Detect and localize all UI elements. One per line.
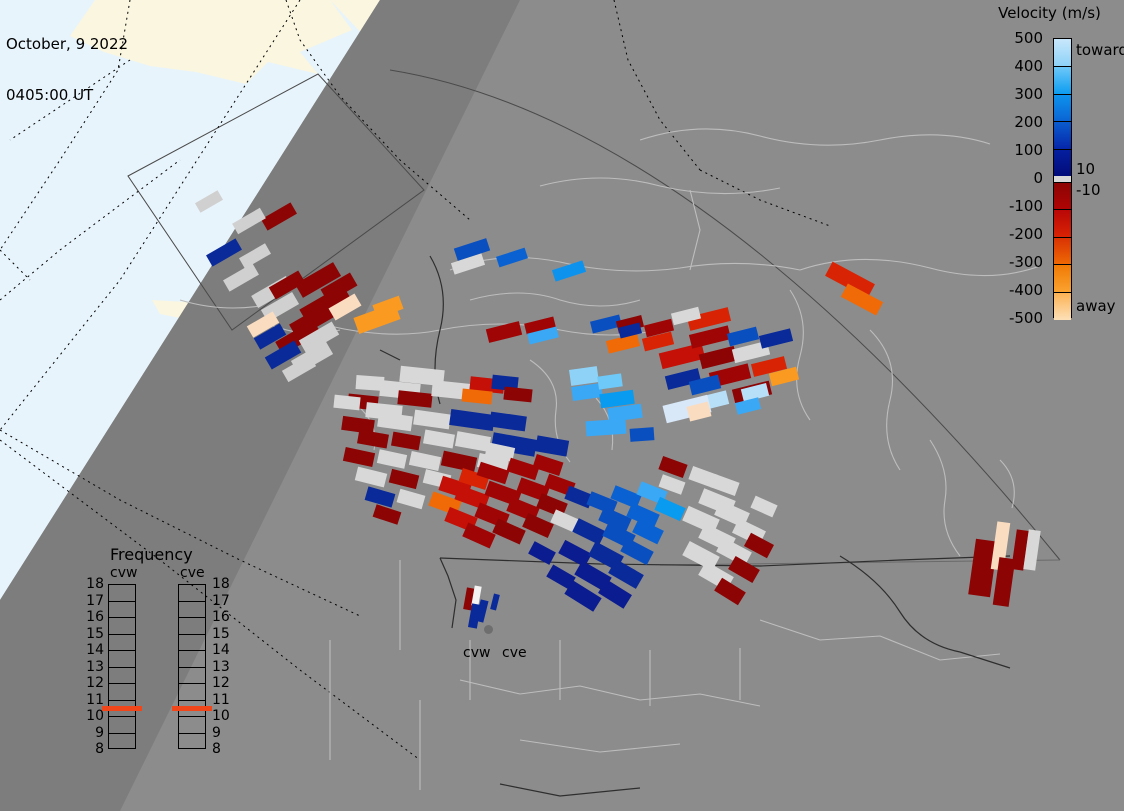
frequency-marker-cvw	[102, 706, 142, 711]
velocity-colorbar-ticks: 5004003002001000-100-200-300-400-500	[975, 38, 1047, 318]
frequency-scale-segment	[109, 585, 135, 602]
colorbar-inner-lower-label: -10	[1076, 181, 1101, 199]
colorbar-band	[1054, 39, 1071, 66]
frequency-tick-label: 14	[86, 642, 104, 658]
station-label-cvw: cvw	[463, 645, 490, 661]
frequency-radar-name: cve	[180, 565, 205, 581]
colorbar-band	[1054, 94, 1071, 122]
frequency-scale-box	[178, 584, 206, 749]
colorbar-tick-label: 0	[1033, 169, 1043, 187]
colorbar-tick-label: 100	[1014, 141, 1043, 159]
frequency-scale-segment	[109, 635, 135, 652]
frequency-tick-label: 16	[212, 609, 230, 625]
colorbar-tick-label: -100	[1009, 197, 1043, 215]
frequency-tick-label: 18	[212, 576, 230, 592]
frequency-scale-segment	[179, 635, 205, 652]
colorbar-band	[1054, 149, 1071, 177]
frequency-scale-segment	[179, 651, 205, 668]
frequency-tick-labels: 18171615141312111098	[82, 584, 104, 749]
frequency-tick-label: 11	[212, 692, 230, 708]
colorbar-band	[1054, 209, 1071, 237]
frequency-tick-label: 13	[212, 659, 230, 675]
colorbar-inner-upper-label: 10	[1076, 160, 1095, 178]
frequency-tick-label: 8	[95, 741, 104, 757]
frequency-tick-label: 12	[86, 675, 104, 691]
frequency-scale-segment	[179, 618, 205, 635]
frequency-scale-box	[108, 584, 136, 749]
colorbar-band	[1054, 264, 1071, 292]
colorbar-band	[1054, 182, 1071, 210]
fan-plot-screen: October, 9 2022 0405:00 UT Velocity (m/s…	[0, 0, 1124, 811]
frequency-tick-label: 8	[212, 741, 221, 757]
radar-cell	[586, 419, 627, 437]
station-label-cve: cve	[502, 645, 527, 661]
frequency-scale-segment	[179, 684, 205, 701]
frequency-tick-label: 18	[86, 576, 104, 592]
colorbar-tick-label: -200	[1009, 225, 1043, 243]
frequency-tick-labels: 18171615141312111098	[212, 584, 234, 749]
radar-cell	[356, 375, 385, 391]
frequency-scale-segment	[109, 602, 135, 619]
time-label: 0405:00 UT	[6, 87, 128, 104]
colorbar-tick-label: 400	[1014, 57, 1043, 75]
frequency-tick-label: 13	[86, 659, 104, 675]
velocity-colorbar: Velocity (m/s) 5004003002001000-100-200-…	[975, 0, 1124, 330]
frequency-marker-cve	[172, 706, 212, 711]
frequency-tick-label: 12	[212, 675, 230, 691]
colorbar-band	[1054, 121, 1071, 149]
frequency-tick-label: 10	[212, 708, 230, 724]
velocity-colorbar-side-labels: toward10-10away	[1074, 38, 1124, 318]
frequency-scale-segment	[179, 585, 205, 602]
frequency-tick-label: 15	[86, 626, 104, 642]
frequency-scale-segment	[179, 668, 205, 685]
frequency-tick-label: 17	[212, 593, 230, 609]
colorbar-band	[1054, 292, 1071, 320]
station-marker-dot	[484, 625, 493, 634]
frequency-scale-segment	[109, 651, 135, 668]
frequency-tick-label: 9	[212, 725, 221, 741]
colorbar-tick-label: -400	[1009, 281, 1043, 299]
frequency-tick-label: 16	[86, 609, 104, 625]
colorbar-band	[1054, 237, 1071, 265]
radar-cell	[630, 427, 655, 442]
frequency-legend: Frequency cvw18171615141312111098cve1817…	[100, 545, 250, 780]
frequency-tick-label: 9	[95, 725, 104, 741]
colorbar-tick-label: -500	[1009, 309, 1043, 327]
colorbar-tick-label: -300	[1009, 253, 1043, 271]
frequency-scale-segment	[109, 618, 135, 635]
frequency-scale-segment	[179, 734, 205, 751]
frequency-scale-segment	[179, 717, 205, 734]
colorbar-toward-label: toward	[1076, 41, 1124, 59]
colorbar-tick-label: 500	[1014, 29, 1043, 47]
velocity-colorbar-title: Velocity (m/s)	[975, 4, 1124, 22]
frequency-scale-segment	[109, 684, 135, 701]
timestamp-block: October, 9 2022 0405:00 UT	[6, 2, 128, 138]
radar-cell	[333, 395, 360, 411]
colorbar-away-label: away	[1076, 297, 1116, 315]
frequency-radar-name: cvw	[110, 565, 137, 581]
colorbar-band	[1054, 66, 1071, 94]
frequency-tick-label: 15	[212, 626, 230, 642]
velocity-colorbar-strip	[1053, 38, 1072, 318]
frequency-tick-label: 17	[86, 593, 104, 609]
frequency-scale-segment	[109, 668, 135, 685]
colorbar-tick-label: 200	[1014, 113, 1043, 131]
frequency-tick-label: 14	[212, 642, 230, 658]
frequency-scale-segment	[109, 734, 135, 751]
colorbar-tick-label: 300	[1014, 85, 1043, 103]
frequency-scale-segment	[179, 602, 205, 619]
date-label: October, 9 2022	[6, 36, 128, 53]
frequency-scale-segment	[109, 717, 135, 734]
frequency-legend-title: Frequency	[110, 545, 193, 564]
